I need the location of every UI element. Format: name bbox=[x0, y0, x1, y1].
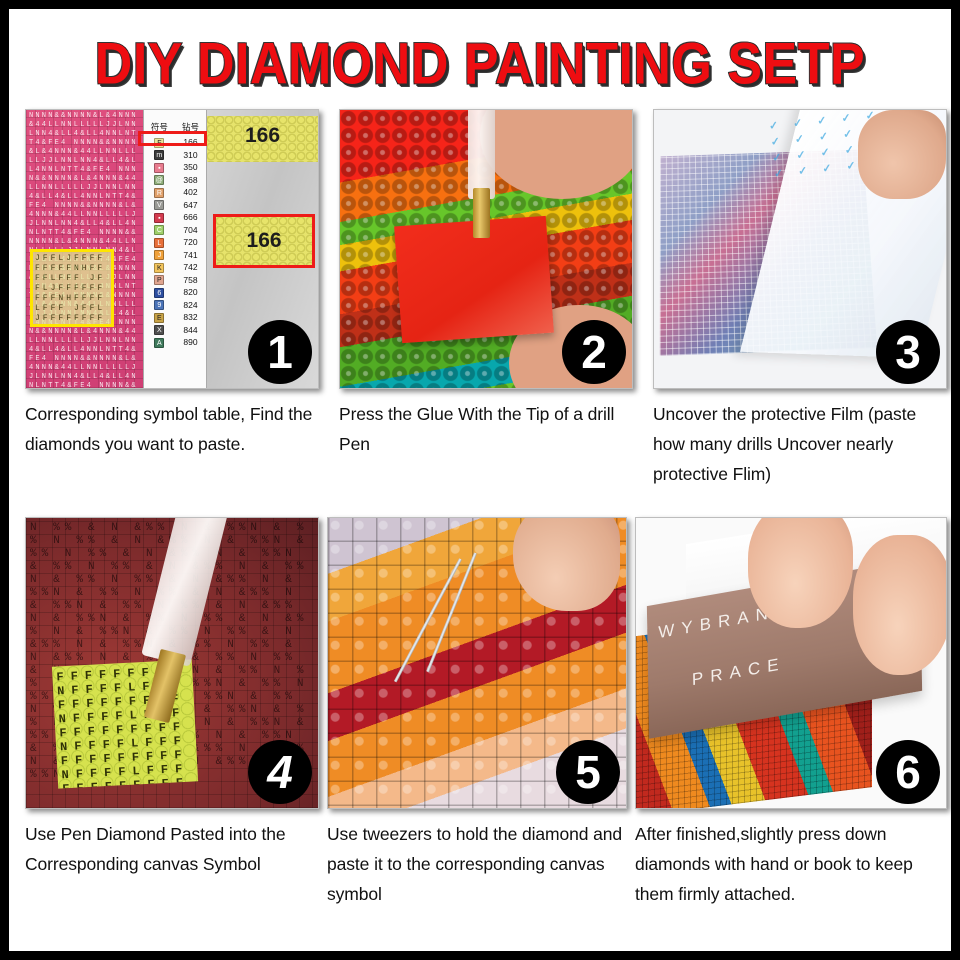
legend-symbol-swatch: A bbox=[154, 338, 164, 348]
legend-symbol-swatch: E bbox=[154, 313, 164, 323]
legend-cell-symbol: @ bbox=[144, 174, 175, 187]
legend-cell-number: 741 bbox=[175, 249, 206, 262]
legend-cell-symbol: 6 bbox=[144, 286, 175, 299]
legend-cell-symbol: ▪ bbox=[144, 211, 175, 224]
legend-cell-symbol: R bbox=[144, 186, 175, 199]
legend-row: ▪666 bbox=[144, 211, 206, 224]
legend-row: K742 bbox=[144, 261, 206, 274]
drill-pen-tip-2 bbox=[473, 188, 491, 238]
legend-row: 6820 bbox=[144, 286, 206, 299]
legend-cell-number: 742 bbox=[175, 261, 206, 274]
symbol-legend-table: 符号 钻号 F166m310▪350@368R402V647▪666C704L7… bbox=[143, 110, 207, 388]
legend-row: X844 bbox=[144, 324, 206, 337]
legend-symbol-swatch: J bbox=[154, 250, 164, 260]
legend-symbol-swatch: R bbox=[154, 188, 164, 198]
legend-row: R402 bbox=[144, 186, 206, 199]
step-badge-3: 3 bbox=[876, 320, 940, 384]
step-caption-6: After finished,slightly press down diamo… bbox=[635, 819, 947, 909]
legend-cell-symbol: ▪ bbox=[144, 161, 175, 174]
poster-sheet: DIY DIAMOND PAINTING SETP NNNN&&NNNN&L&4… bbox=[9, 9, 951, 951]
step-badge-1: 1 bbox=[248, 320, 312, 384]
page-title: DIY DIAMOND PAINTING SETP bbox=[95, 31, 865, 98]
legend-row: L720 bbox=[144, 236, 206, 249]
legend-row: J741 bbox=[144, 249, 206, 262]
legend-cell-symbol: m bbox=[144, 149, 175, 162]
legend-cell-number: 368 bbox=[175, 174, 206, 187]
steps-row-2: N %% & N &%% N & %%N & %% N %% & N &%% N… bbox=[9, 517, 951, 937]
step-caption-1: Corresponding symbol table, Find the dia… bbox=[25, 399, 319, 459]
step-caption-5: Use tweezers to hold the diamond and pas… bbox=[327, 819, 627, 909]
steps-row-1: NNNN&&NNNN&L&4NNN&44LLNNLLLLLJJLNNLNN4&L… bbox=[9, 109, 951, 509]
legend-cell-number: 820 bbox=[175, 286, 206, 299]
legend-cell-symbol: X bbox=[144, 324, 175, 337]
hand-pressing-right bbox=[853, 535, 947, 674]
yellow-highlight-box: JFFLJFFFFFFFFFNHFFFFLFFF JFFLJFFFFFFFFFN… bbox=[30, 249, 114, 327]
legend-symbol-swatch: m bbox=[154, 150, 164, 160]
bead-label-bottom: 166 bbox=[216, 229, 312, 253]
legend-symbol-swatch: V bbox=[154, 200, 164, 210]
legend-symbol-swatch: 6 bbox=[154, 288, 164, 298]
step-card-3: ✓ ✓ ✓ ✓ ✓ ✓ ✓ ✓ ✓ ✓ ✓ ✓ ✓ ✓ ✓ ✓ ✓ ✓ ✓ ✓ … bbox=[653, 109, 947, 489]
legend-cell-number: 310 bbox=[175, 149, 206, 162]
legend-cell-symbol: K bbox=[144, 261, 175, 274]
legend-cell-number: 350 bbox=[175, 161, 206, 174]
bead-band-bottom: 166 bbox=[216, 217, 312, 265]
legend-symbol-swatch: ▪ bbox=[154, 213, 164, 223]
step-photo-5: 5 bbox=[327, 517, 627, 809]
step-photo-3: ✓ ✓ ✓ ✓ ✓ ✓ ✓ ✓ ✓ ✓ ✓ ✓ ✓ ✓ ✓ ✓ ✓ ✓ ✓ ✓ … bbox=[653, 109, 947, 389]
step-photo-6: WYBRANE PRACE 6 bbox=[635, 517, 947, 809]
legend-symbol-swatch: 9 bbox=[154, 300, 164, 310]
legend-symbol-swatch: P bbox=[154, 275, 164, 285]
legend-cell-symbol: 9 bbox=[144, 299, 175, 312]
legend-row: V647 bbox=[144, 199, 206, 212]
legend-cell-number: 844 bbox=[175, 324, 206, 337]
legend-symbol-swatch: X bbox=[154, 325, 164, 335]
legend-cell-number: 758 bbox=[175, 274, 206, 287]
legend-row: m310 bbox=[144, 149, 206, 162]
legend-row: P758 bbox=[144, 274, 206, 287]
legend-table: 符号 钻号 F166m310▪350@368R402V647▪666C704L7… bbox=[144, 120, 206, 349]
legend-row: C704 bbox=[144, 224, 206, 237]
canvas-swatch-1: NNNN&&NNNN&L&4NNN&44LLNNLLLLLJJLNNLNN4&L… bbox=[26, 110, 143, 388]
highlight-symbol-text: JFFLJFFFFFFFFFNHFFFFLFFF JFFLJFFFFFFFFFN… bbox=[33, 252, 111, 324]
legend-symbol-swatch: ▪ bbox=[154, 163, 164, 173]
legend-cell-symbol: C bbox=[144, 224, 175, 237]
legend-cell-number: 647 bbox=[175, 199, 206, 212]
legend-cell-symbol: E bbox=[144, 311, 175, 324]
step-card-6: WYBRANE PRACE 6 After finished,slightly … bbox=[635, 517, 947, 909]
step-photo-1: NNNN&&NNNN&L&4NNN&44LLNNLLLLLJJLNNLNN4&L… bbox=[25, 109, 319, 389]
hand-peeling-film bbox=[858, 110, 946, 199]
legend-cell-number: 824 bbox=[175, 299, 206, 312]
step-card-5: 5 Use tweezers to hold the diamond and p… bbox=[327, 517, 627, 909]
step-badge-2: 2 bbox=[562, 320, 626, 384]
legend-symbol-swatch: L bbox=[154, 238, 164, 248]
legend-row: A890 bbox=[144, 336, 206, 349]
steps-grid: NNNN&&NNNN&L&4NNN&44LLNNLLLLLJJLNNLNN4&L… bbox=[9, 109, 951, 937]
legend-cell-number: 402 bbox=[175, 186, 206, 199]
legend-row: E832 bbox=[144, 311, 206, 324]
bead-band-top: 166 bbox=[207, 116, 318, 162]
legend-symbol-swatch: @ bbox=[154, 175, 164, 185]
red-highlight-box-beads: 166 bbox=[213, 214, 315, 268]
legend-cell-number: 666 bbox=[175, 211, 206, 224]
step-caption-2: Press the Glue With the Tip of a drill P… bbox=[339, 399, 633, 459]
legend-cell-number: 832 bbox=[175, 311, 206, 324]
step-photo-4: N %% & N &%% N & %%N & %% N %% & N &%% N… bbox=[25, 517, 319, 809]
legend-cell-symbol: P bbox=[144, 274, 175, 287]
step-card-4: N %% & N &%% N & %%N & %% N %% & N &%% N… bbox=[25, 517, 319, 879]
legend-symbol-swatch: K bbox=[154, 263, 164, 273]
step-badge-4: 4 bbox=[248, 740, 312, 804]
step-photo-2: 2 bbox=[339, 109, 633, 389]
bead-label-top: 166 bbox=[207, 124, 318, 148]
red-highlight-box-legend bbox=[138, 131, 208, 146]
legend-body: F166m310▪350@368R402V647▪666C704L720J741… bbox=[144, 136, 206, 349]
legend-cell-symbol: V bbox=[144, 199, 175, 212]
legend-cell-symbol: A bbox=[144, 336, 175, 349]
legend-cell-number: 720 bbox=[175, 236, 206, 249]
legend-row: 9824 bbox=[144, 299, 206, 312]
page-title-wrap: DIY DIAMOND PAINTING SETP bbox=[9, 31, 951, 91]
step-badge-5: 5 bbox=[556, 740, 620, 804]
step-card-2: 2 Press the Glue With the Tip of a drill… bbox=[339, 109, 633, 459]
step-badge-6: 6 bbox=[876, 740, 940, 804]
poster-root: DIY DIAMOND PAINTING SETP NNNN&&NNNN&L&4… bbox=[0, 0, 960, 960]
legend-symbol-swatch: C bbox=[154, 225, 164, 235]
legend-row: @368 bbox=[144, 174, 206, 187]
legend-cell-symbol: L bbox=[144, 236, 175, 249]
legend-cell-number: 890 bbox=[175, 336, 206, 349]
legend-row: ▪350 bbox=[144, 161, 206, 174]
step-card-1: NNNN&&NNNN&L&4NNN&44LLNNLLLLLJJLNNLNN4&L… bbox=[25, 109, 319, 459]
legend-cell-number: 704 bbox=[175, 224, 206, 237]
step-caption-3: Uncover the protective Film (paste how m… bbox=[653, 399, 947, 489]
drill-pen-body-2 bbox=[468, 109, 494, 199]
step-caption-4: Use Pen Diamond Pasted into the Correspo… bbox=[25, 819, 319, 879]
legend-cell-symbol: J bbox=[144, 249, 175, 262]
